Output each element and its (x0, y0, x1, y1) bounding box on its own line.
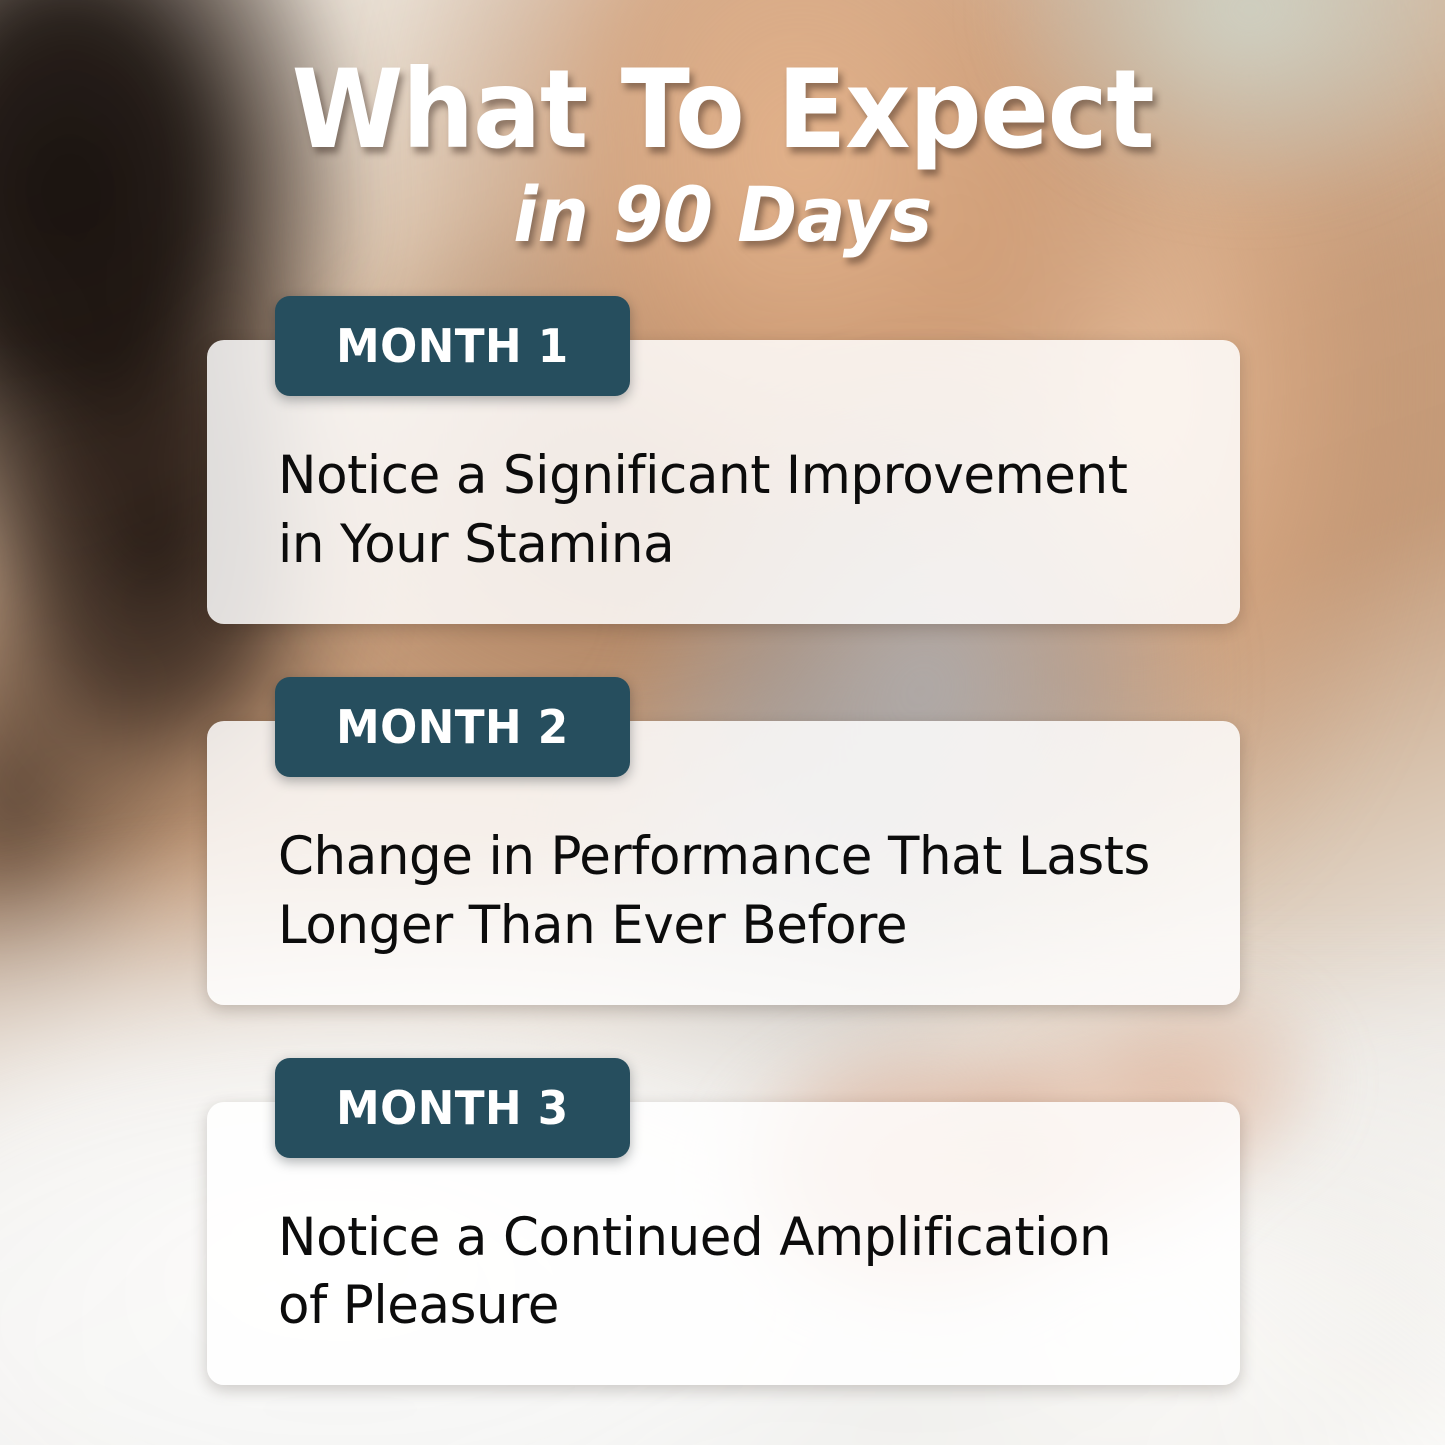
timeline-item-month-3: MONTH 3 Notice a Continued Amplification… (0, 1058, 1445, 1386)
card-month-3-text: Notice a Continued Amplification of Plea… (278, 1204, 1153, 1342)
badge-month-1-label: MONTH 1 (336, 319, 569, 373)
card-month-1-text: Notice a Significant Improvement in Your… (278, 442, 1153, 580)
timeline-item-month-1: MONTH 1 Notice a Significant Improvement… (0, 296, 1445, 624)
badge-month-3-label: MONTH 3 (336, 1081, 569, 1135)
card-month-2-text: Change in Performance That Lasts Longer … (278, 823, 1153, 961)
infographic-canvas: What To Expect in 90 Days MONTH 1 Notice… (0, 0, 1445, 1445)
badge-month-3: MONTH 3 (275, 1058, 630, 1158)
timeline-list: MONTH 1 Notice a Significant Improvement… (0, 296, 1445, 1438)
timeline-item-month-2: MONTH 2 Change in Performance That Lasts… (0, 677, 1445, 1005)
badge-month-1: MONTH 1 (275, 296, 630, 396)
badge-month-2-label: MONTH 2 (336, 700, 569, 754)
badge-month-2: MONTH 2 (275, 677, 630, 777)
